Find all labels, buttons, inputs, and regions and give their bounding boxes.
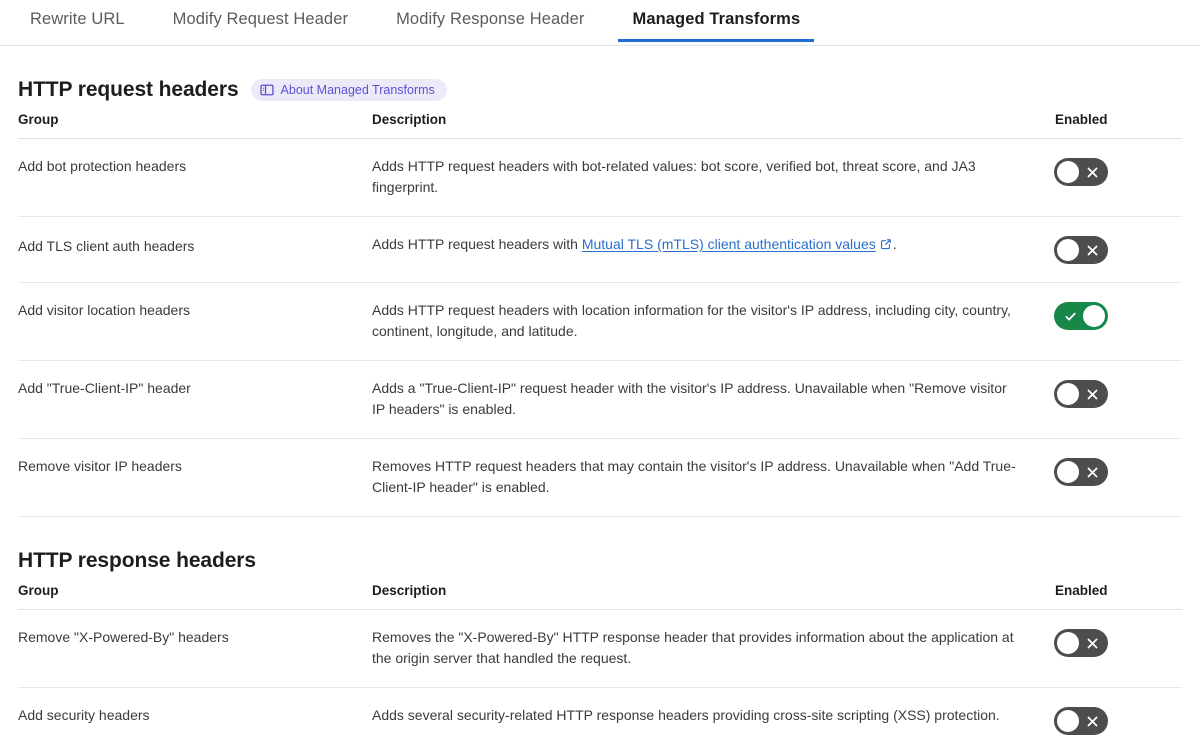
row-enabled-cell bbox=[1052, 439, 1182, 517]
toggle-remove-x-powered-by-headers[interactable] bbox=[1054, 629, 1108, 657]
close-icon bbox=[1076, 458, 1108, 486]
table-row: Add TLS client auth headers Adds HTTP re… bbox=[18, 217, 1182, 283]
section-header-response: HTTP response headers bbox=[18, 517, 1182, 583]
about-managed-transforms-badge[interactable]: About Managed Transforms bbox=[251, 79, 447, 101]
column-header-group: Group bbox=[18, 112, 372, 139]
column-header-description: Description bbox=[372, 112, 1052, 139]
toggle-add-true-client-ip-header[interactable] bbox=[1054, 380, 1108, 408]
toggle-remove-visitor-ip-headers[interactable] bbox=[1054, 458, 1108, 486]
mtls-documentation-link[interactable]: Mutual TLS (mTLS) client authentication … bbox=[582, 236, 876, 252]
toggle-add-tls-client-auth-headers[interactable] bbox=[1054, 236, 1108, 264]
close-icon bbox=[1076, 236, 1108, 264]
book-icon bbox=[260, 83, 274, 97]
row-group-label: Add "True-Client-IP" header bbox=[18, 361, 372, 439]
row-group-label: Add security headers bbox=[18, 688, 372, 742]
row-description-text-after: . bbox=[893, 236, 897, 252]
table-header-row: Group Description Enabled bbox=[18, 583, 1182, 610]
section-header-request: HTTP request headers About Managed Trans… bbox=[18, 46, 1182, 112]
table-row: Remove "X-Powered-By" headers Removes th… bbox=[18, 610, 1182, 688]
about-managed-transforms-label: About Managed Transforms bbox=[281, 83, 435, 97]
table-row: Add security headers Adds several securi… bbox=[18, 688, 1182, 742]
tab-modify-request-header[interactable]: Modify Request Header bbox=[173, 0, 348, 42]
section-http-request-headers: HTTP request headers About Managed Trans… bbox=[18, 46, 1182, 517]
page-content: HTTP request headers About Managed Trans… bbox=[0, 46, 1200, 742]
row-description-text-before: Adds HTTP request headers with bbox=[372, 236, 582, 252]
row-enabled-cell bbox=[1052, 217, 1182, 283]
row-description: Adds several security-related HTTP respo… bbox=[372, 688, 1052, 742]
row-enabled-cell bbox=[1052, 361, 1182, 439]
row-description: Adds HTTP request headers with bot-relat… bbox=[372, 139, 1052, 217]
table-header-row: Group Description Enabled bbox=[18, 112, 1182, 139]
table-row: Remove visitor IP headers Removes HTTP r… bbox=[18, 439, 1182, 517]
tab-modify-response-header[interactable]: Modify Response Header bbox=[396, 0, 584, 42]
table-row: Add visitor location headers Adds HTTP r… bbox=[18, 283, 1182, 361]
close-icon bbox=[1076, 629, 1108, 657]
column-header-description: Description bbox=[372, 583, 1052, 610]
column-header-enabled: Enabled bbox=[1052, 112, 1182, 139]
row-group-label: Add bot protection headers bbox=[18, 139, 372, 217]
row-description: Adds a "True-Client-IP" request header w… bbox=[372, 361, 1052, 439]
tab-bar: Rewrite URL Modify Request Header Modify… bbox=[0, 0, 1200, 46]
row-description: Removes HTTP request headers that may co… bbox=[372, 439, 1052, 517]
toggle-add-bot-protection-headers[interactable] bbox=[1054, 158, 1108, 186]
row-description: Removes the "X-Powered-By" HTTP response… bbox=[372, 610, 1052, 688]
row-enabled-cell bbox=[1052, 688, 1182, 742]
close-icon bbox=[1076, 158, 1108, 186]
close-icon bbox=[1076, 380, 1108, 408]
tab-rewrite-url[interactable]: Rewrite URL bbox=[30, 0, 125, 42]
toggle-knob bbox=[1083, 305, 1105, 327]
row-group-label: Add TLS client auth headers bbox=[18, 217, 372, 283]
row-group-label: Remove visitor IP headers bbox=[18, 439, 372, 517]
column-header-group: Group bbox=[18, 583, 372, 610]
row-description: Adds HTTP request headers with Mutual TL… bbox=[372, 217, 1052, 283]
tab-managed-transforms[interactable]: Managed Transforms bbox=[632, 0, 800, 42]
row-enabled-cell bbox=[1052, 610, 1182, 688]
toggle-add-security-headers[interactable] bbox=[1054, 707, 1108, 735]
managed-transforms-request-table: Group Description Enabled Add bot protec… bbox=[18, 112, 1182, 517]
table-row: Add bot protection headers Adds HTTP req… bbox=[18, 139, 1182, 217]
row-group-label: Remove "X-Powered-By" headers bbox=[18, 610, 372, 688]
table-row: Add "True-Client-IP" header Adds a "True… bbox=[18, 361, 1182, 439]
page-title-request-headers: HTTP request headers bbox=[18, 78, 239, 102]
column-header-enabled: Enabled bbox=[1052, 583, 1182, 610]
toggle-add-visitor-location-headers[interactable] bbox=[1054, 302, 1108, 330]
row-enabled-cell bbox=[1052, 283, 1182, 361]
row-enabled-cell bbox=[1052, 139, 1182, 217]
section-http-response-headers: HTTP response headers Group Description … bbox=[18, 517, 1182, 742]
row-group-label: Add visitor location headers bbox=[18, 283, 372, 361]
row-description: Adds HTTP request headers with location … bbox=[372, 283, 1052, 361]
check-icon bbox=[1054, 302, 1086, 330]
close-icon bbox=[1076, 707, 1108, 735]
external-link-icon bbox=[880, 235, 892, 256]
managed-transforms-response-table: Group Description Enabled Remove "X-Powe… bbox=[18, 583, 1182, 742]
page-title-response-headers: HTTP response headers bbox=[18, 549, 256, 573]
